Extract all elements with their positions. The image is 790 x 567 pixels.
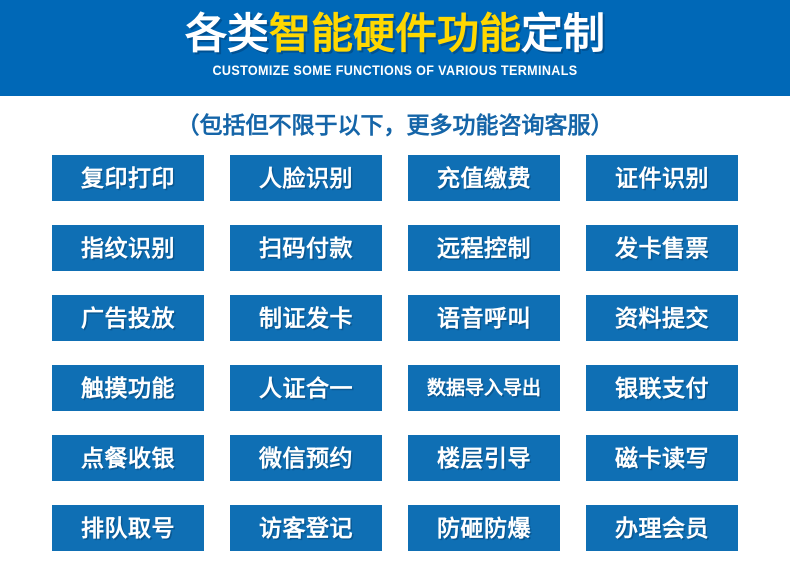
page-title-segment-3: 定制 [521,10,605,57]
feature-chip[interactable]: 充值缴费 [408,155,560,201]
feature-chip[interactable]: 资料提交 [586,295,738,341]
feature-chip[interactable]: 点餐收银 [52,435,204,481]
feature-chip[interactable]: 发卡售票 [586,225,738,271]
feature-chip[interactable]: 访客登记 [230,505,382,551]
scope-note: （包括但不限于以下，更多功能咨询客服） [0,112,790,138]
feature-chip[interactable]: 磁卡读写 [586,435,738,481]
feature-chip[interactable]: 排队取号 [52,505,204,551]
page-banner: 各类智能硬件功能定制 CUSTOMIZE SOME FUNCTIONS OF V… [0,0,790,96]
feature-chip[interactable]: 触摸功能 [52,365,204,411]
page-title: 各类智能硬件功能定制 [0,8,790,60]
feature-chip[interactable]: 复印打印 [52,155,204,201]
feature-chip[interactable]: 人脸识别 [230,155,382,201]
feature-chip[interactable]: 制证发卡 [230,295,382,341]
feature-chip[interactable]: 远程控制 [408,225,560,271]
feature-chip[interactable]: 银联支付 [586,365,738,411]
feature-chip[interactable]: 指纹识别 [52,225,204,271]
page-title-segment-1: 各类 [185,10,269,57]
page-title-segment-2: 智能硬件功能 [269,10,521,57]
feature-chip[interactable]: 人证合一 [230,365,382,411]
feature-grid: 复印打印人脸识别充值缴费证件识别指纹识别扫码付款远程控制发卡售票广告投放制证发卡… [52,155,738,551]
page-subtitle: CUSTOMIZE SOME FUNCTIONS OF VARIOUS TERM… [28,63,763,78]
feature-chip[interactable]: 语音呼叫 [408,295,560,341]
feature-chip[interactable]: 楼层引导 [408,435,560,481]
feature-chip[interactable]: 微信预约 [230,435,382,481]
feature-chip[interactable]: 办理会员 [586,505,738,551]
feature-chip[interactable]: 防砸防爆 [408,505,560,551]
feature-chip[interactable]: 证件识别 [586,155,738,201]
feature-chip[interactable]: 数据导入导出 [408,365,560,411]
feature-chip[interactable]: 广告投放 [52,295,204,341]
feature-chip[interactable]: 扫码付款 [230,225,382,271]
